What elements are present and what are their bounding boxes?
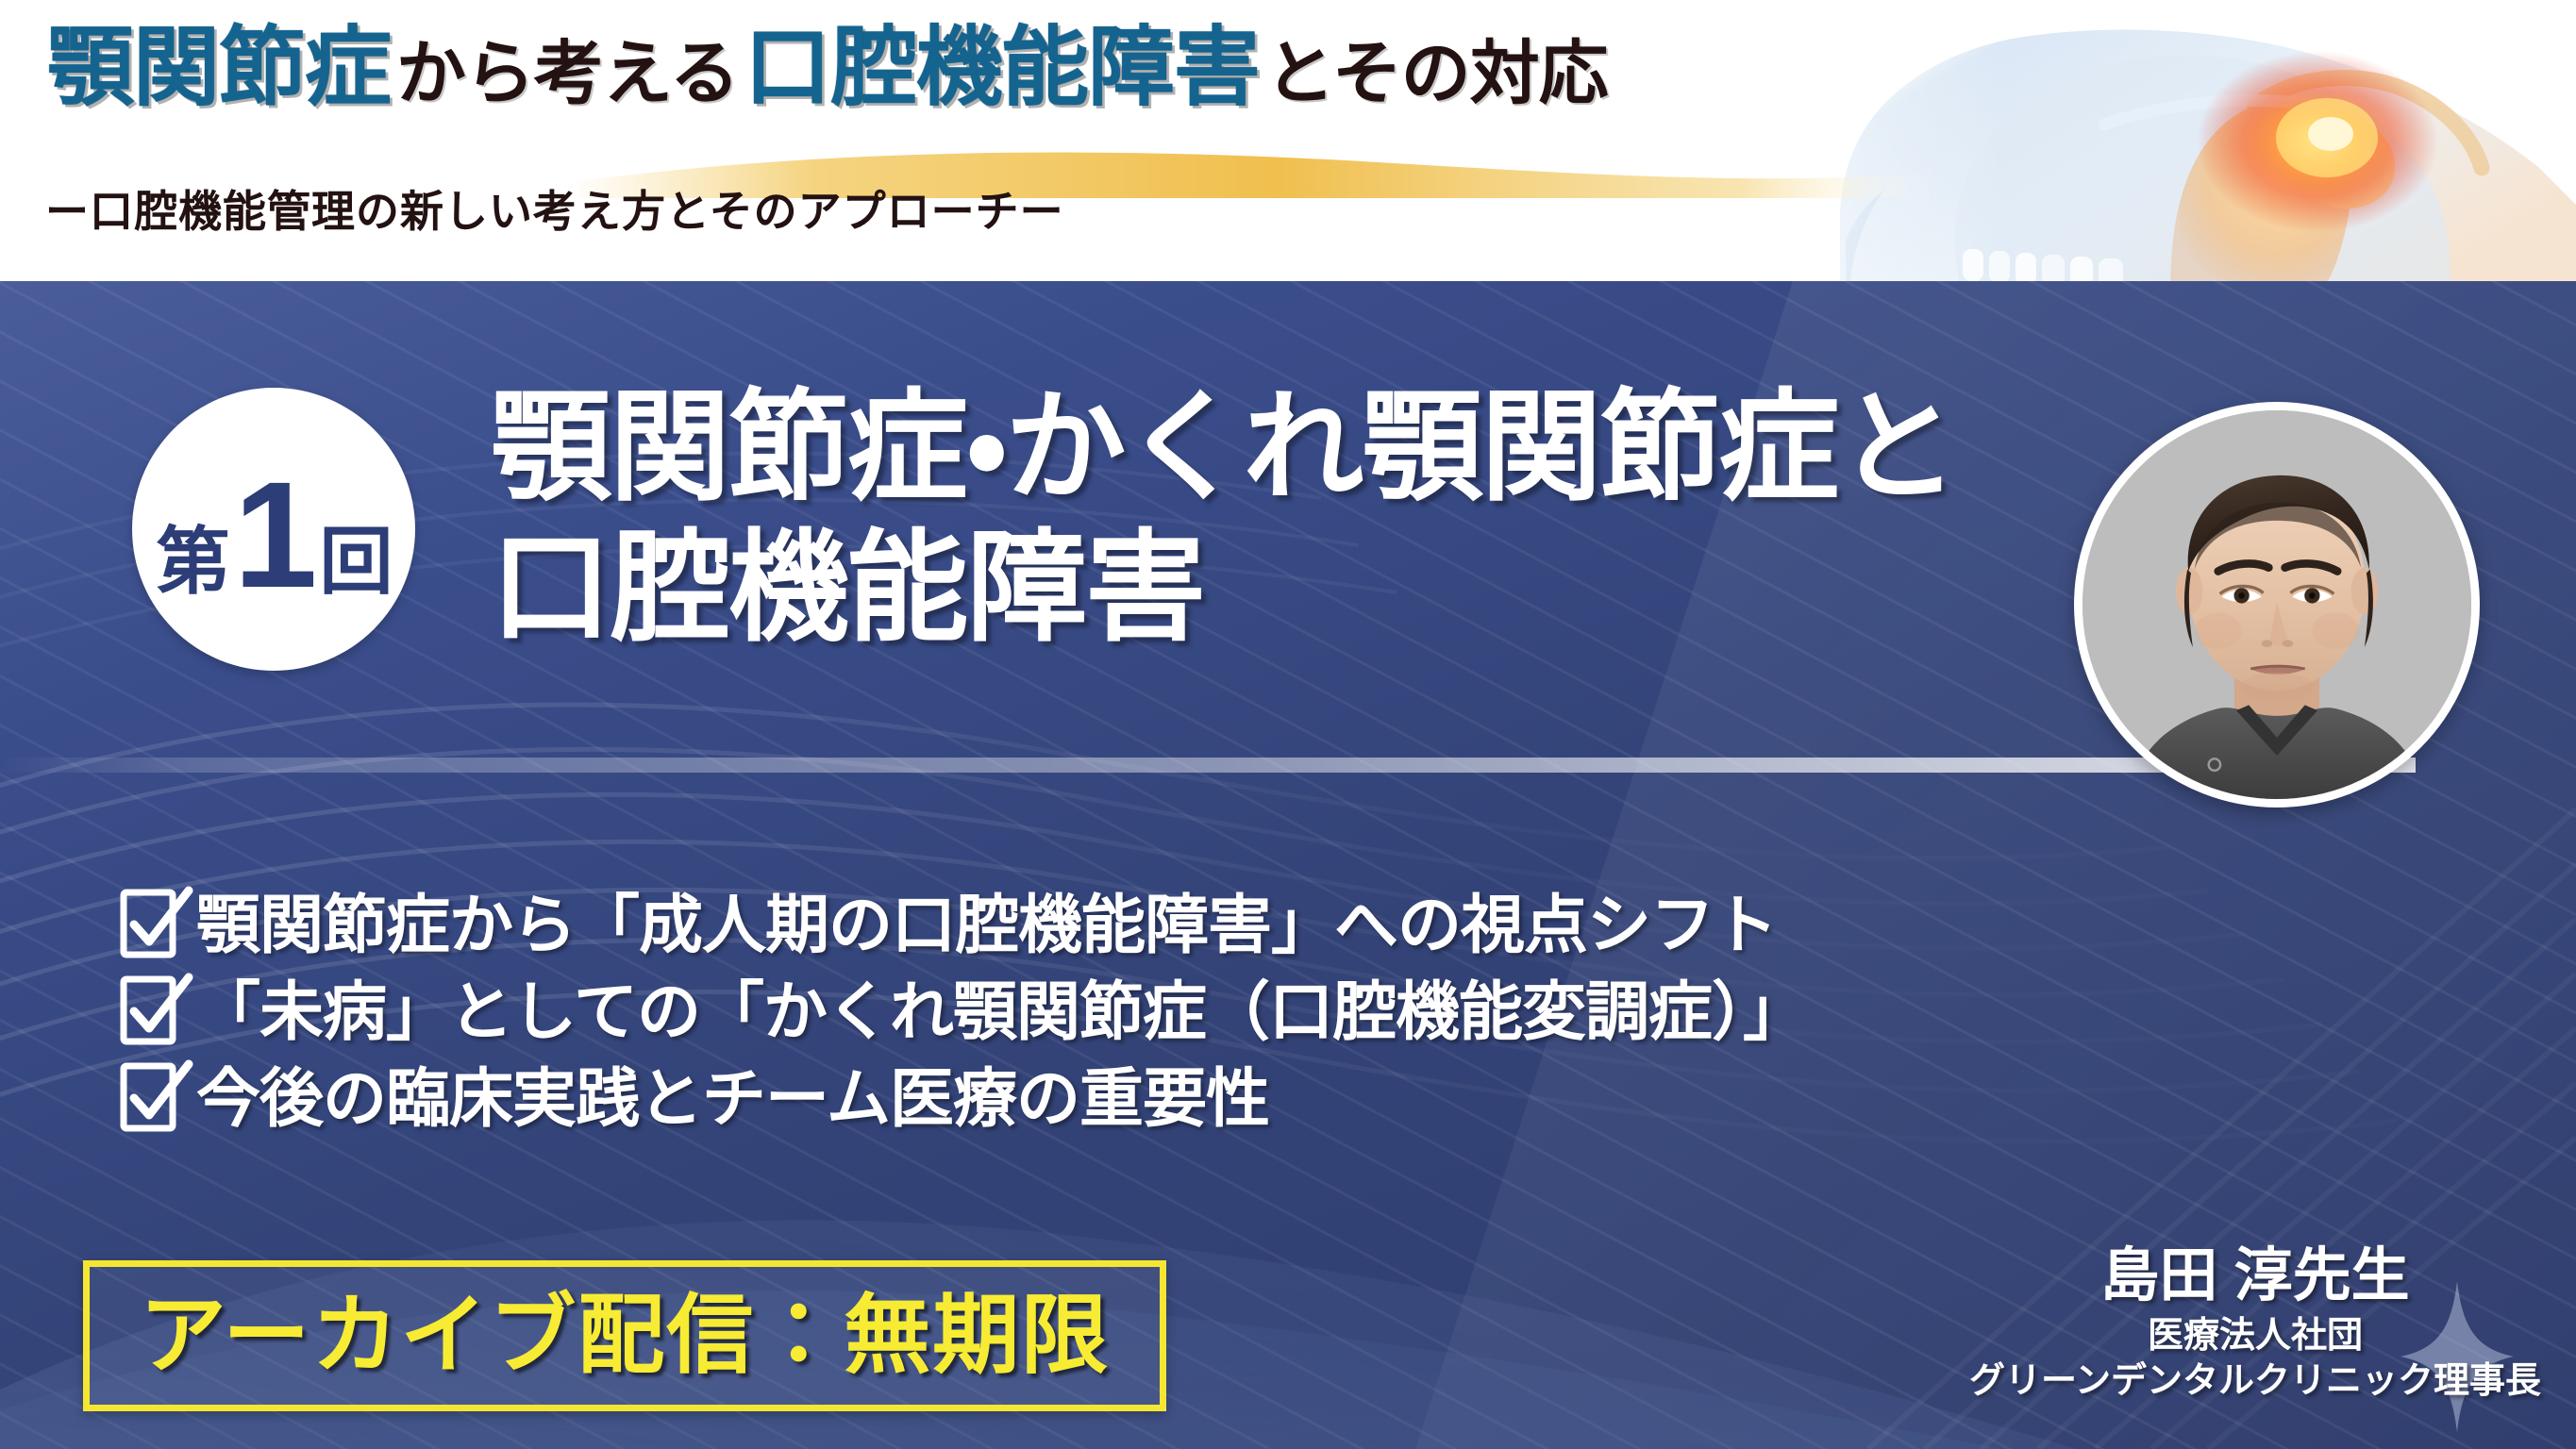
speaker-organization: 医療法人社団 <box>1944 1314 2567 1359</box>
list-item: 「未病」としての「かくれ顎関節症（口腔機能変調症）」 <box>121 979 1914 1045</box>
banner-header: 顎関節症 から考える 口腔機能障害 とその対応 ー口腔機能管理の新しい考え方とそ… <box>0 0 2576 281</box>
checklist-label: 顎関節症から「成人期の口腔機能障害」への視点シフト <box>196 893 1777 958</box>
checkbox-checked-icon <box>121 979 176 1045</box>
badge-number: 1 <box>228 459 320 610</box>
speaker-portrait-shimada <box>2074 402 2480 808</box>
speaker-role: グリーンデンタルクリニック理事長 <box>1944 1359 2567 1405</box>
header-subtitle: ー口腔機能管理の新しい考え方とそのアプローチー <box>45 177 1064 240</box>
main-title: 顎関節症・かくれ顎関節症と 口腔機能障害 <box>491 380 1957 657</box>
header-title: 顎関節症 から考える 口腔機能障害 とその対応 <box>47 25 1614 111</box>
speaker-info: 島田 淳先生 医療法人社団 グリーンデンタルクリニック理事長 <box>1944 1245 2567 1404</box>
main-title-line2: 口腔機能障害 <box>491 521 1957 656</box>
episode-number-badge: 第 1 回 <box>132 388 415 671</box>
banner-body: 第 1 回 顎関節症・かくれ顎関節症と 口腔機能障害 顎関節症から「成人期の口腔… <box>0 281 2576 1449</box>
main-title-line1: 顎関節症・かくれ顎関節症と <box>491 380 1957 515</box>
checkbox-checked-icon <box>121 1066 176 1132</box>
badge-suffix: 回 <box>319 525 391 598</box>
archive-availability-box: アーカイブ配信：無期限 <box>83 1260 1166 1411</box>
tmj-xray-illustration <box>1727 0 2576 281</box>
header-title-part4: とその対応 <box>1260 39 1614 108</box>
section-divider <box>0 758 2416 773</box>
checklist-label: 今後の臨床実践とチーム医療の重要性 <box>196 1067 1269 1131</box>
topic-checklist: 顎関節症から「成人期の口腔機能障害」への視点シフト 「未病」としての「かくれ顎関… <box>121 892 1914 1153</box>
speaker-name: 島田 淳先生 <box>1944 1245 2567 1307</box>
header-title-part2: から考える <box>391 39 744 108</box>
badge-prefix: 第 <box>156 525 227 598</box>
seminar-banner: 顎関節症 から考える 口腔機能障害 とその対応 ー口腔機能管理の新しい考え方とそ… <box>0 0 2576 1449</box>
archive-label: アーカイブ配信：無期限 <box>140 1292 1110 1379</box>
header-title-part1: 顎関節症 <box>47 25 391 111</box>
checkbox-checked-icon <box>121 892 176 958</box>
list-item: 顎関節症から「成人期の口腔機能障害」への視点シフト <box>121 892 1914 958</box>
checklist-label: 「未病」としての「かくれ顎関節症（口腔機能変調症）」 <box>196 980 1806 1044</box>
list-item: 今後の臨床実践とチーム医療の重要性 <box>121 1066 1914 1132</box>
header-title-part3: 口腔機能障害 <box>744 25 1260 111</box>
